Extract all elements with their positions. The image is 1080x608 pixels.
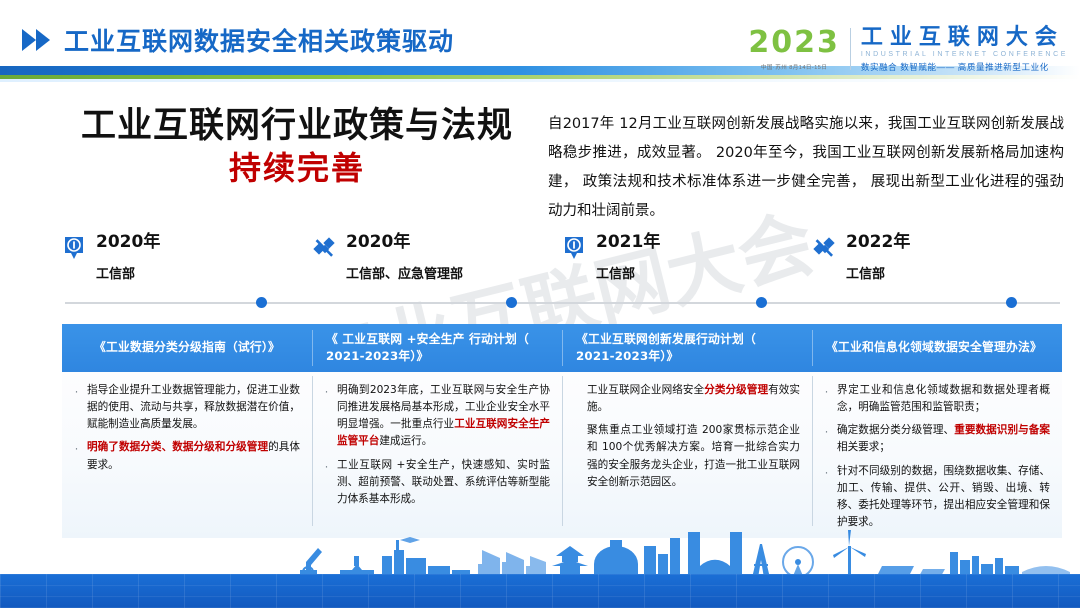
- timeline-org: 工信部: [96, 263, 160, 282]
- bullet-dot-icon: ·: [822, 463, 831, 532]
- plain-text: 确定数据分类分级管理、: [837, 424, 954, 436]
- intro-paragraph: 自2017年 12月工业互联网创新发展战略实施以来，我国工业互联网创新发展战略稳…: [548, 110, 1064, 226]
- footer-grid: [0, 574, 1080, 608]
- logo-year-block: 2023 中国·苏州 8月14日-15日: [748, 26, 840, 71]
- policy-column: ·明确到2023年底，工业互联网与安全生产协同推进发展格局基本形成，工业企业安全…: [312, 372, 562, 538]
- bullet-dot-icon: ·: [822, 422, 831, 456]
- policy-bullet-text: 工业互联网 +安全生产，快速感知、实时监测、超前预警、联动处置、系统评估等新型能…: [337, 457, 550, 508]
- policy-title[interactable]: 《工业和信息化领域数据安全管理办法》: [812, 324, 1062, 372]
- logo-name-en: INDUSTRIAL INTERNET CONFERENCE: [861, 51, 1068, 58]
- bullet-dot-icon: ·: [322, 457, 331, 508]
- slide-header: 工业互联网数据安全相关政策驱动 2023 中国·苏州 8月14日-15日 工业互…: [0, 0, 1080, 92]
- timeline-dot: [256, 297, 267, 308]
- bullet-dot-icon: ·: [822, 382, 831, 416]
- header-title-row: 工业互联网数据安全相关政策驱动: [22, 22, 454, 58]
- plain-text: 工业互联网企业网络安全: [587, 384, 704, 396]
- timeline-year: 2022年: [846, 232, 910, 253]
- logo-date: 中国·苏州 8月14日-15日: [761, 63, 828, 71]
- slide-root: 工业互联网大会 2023工业互联网大会 工业互联网数据安全相关政策驱动 2023…: [0, 0, 1080, 608]
- timeline-item[interactable]: 2021年工信部: [562, 232, 660, 282]
- policy-title[interactable]: 《工业互联网创新发展行动计划（ 2021-2023年）》: [562, 324, 812, 372]
- policy-title-bar: 《工业数据分类分级指南（试行）》《 工业互联网 +安全生产 行动计划（ 2021…: [62, 324, 1062, 372]
- policy-bullet: ·工业互联网 +安全生产，快速感知、实时监测、超前预警、联动处置、系统评估等新型…: [322, 457, 550, 508]
- main-title: 工业互联网行业政策与法规: [62, 106, 532, 147]
- map-pin-icon: [562, 236, 586, 262]
- logo-slogan: 数实融合 数智赋能—— 高质量推进新型工业化: [861, 61, 1068, 73]
- timeline-item-texts: 2020年工信部、应急管理部: [346, 232, 463, 282]
- timeline-axis: [65, 302, 1060, 304]
- satellite-icon: [312, 236, 336, 262]
- city-skyline-icon: [0, 526, 1080, 578]
- policy-bullet: ·工业互联网企业网络安全分类分级管理有效实施。: [572, 382, 800, 416]
- timeline-org: 工信部: [596, 263, 660, 282]
- plain-text: 建成运行。: [379, 435, 432, 447]
- policy-bullet-text: 界定工业和信息化领域数据和数据处理者概念，明确监管范围和监管职责；: [837, 382, 1050, 416]
- policy-bullet: ·指导企业提升工业数据管理能力，促进工业数据的使用、流动与共享，释放数据潜在价值…: [72, 382, 300, 433]
- timeline-year: 2021年: [596, 232, 660, 253]
- highlighted-text: 重要数据识别与备案: [954, 424, 1050, 436]
- policy-bullet: ·针对不同级别的数据，围绕数据收集、存储、加工、传输、提供、公开、销毁、出境、转…: [822, 463, 1050, 532]
- logo-name-cn: 工业互联网大会: [861, 26, 1068, 49]
- map-pin-icon: [62, 236, 86, 262]
- page-title: 工业互联网数据安全相关政策驱动: [64, 22, 454, 58]
- policy-bullet: ·确定数据分类分级管理、重要数据识别与备案相关要求；: [822, 422, 1050, 456]
- slide-footer: [0, 530, 1080, 608]
- timeline-item[interactable]: 2020年工信部: [62, 232, 160, 282]
- timeline-item-texts: 2022年工信部: [846, 232, 910, 282]
- policy-panel: 《工业数据分类分级指南（试行）》《 工业互联网 +安全生产 行动计划（ 2021…: [62, 324, 1062, 538]
- highlighted-text: 分类分级管理: [704, 384, 768, 396]
- timeline-dot: [506, 297, 517, 308]
- timeline-item[interactable]: 2022年工信部: [812, 232, 910, 282]
- plain-text: 相关要求；: [837, 441, 890, 453]
- bullet-dot-icon: ·: [72, 382, 81, 433]
- timeline-dot: [756, 297, 767, 308]
- policy-bullet-text: 工业互联网企业网络安全分类分级管理有效实施。: [587, 382, 800, 416]
- policy-columns: ·指导企业提升工业数据管理能力，促进工业数据的使用、流动与共享，释放数据潜在价值…: [62, 372, 1062, 538]
- plain-text: 聚焦重点工业领域打造 200家贯标示范企业和 100个优秀解决方案。培育一批综合…: [587, 424, 800, 487]
- header-light-rule: [0, 79, 1080, 82]
- bullet-dot-icon: ·: [322, 382, 331, 451]
- plain-text: 针对不同级别的数据，围绕数据收集、存储、加工、传输、提供、公开、销毁、出境、转移…: [837, 465, 1050, 528]
- timeline-org: 工信部、应急管理部: [346, 263, 463, 282]
- timeline-item-texts: 2021年工信部: [596, 232, 660, 282]
- plain-text: 指导企业提升工业数据管理能力，促进工业数据的使用、流动与共享，释放数据潜在价值，…: [87, 384, 300, 430]
- timeline-year: 2020年: [346, 232, 463, 253]
- plain-text: 界定工业和信息化领域数据和数据处理者概念，明确监管范围和监管职责；: [837, 384, 1050, 413]
- policy-bullet-text: 针对不同级别的数据，围绕数据收集、存储、加工、传输、提供、公开、销毁、出境、转移…: [837, 463, 1050, 532]
- timeline-item-texts: 2020年工信部: [96, 232, 160, 282]
- policy-bullet: ·界定工业和信息化领域数据和数据处理者概念，明确监管范围和监管职责；: [822, 382, 1050, 416]
- timeline-item[interactable]: 2020年工信部、应急管理部: [312, 232, 463, 282]
- policy-bullet-text: 明确了数据分类、数据分级和分级管理的具体要求。: [87, 439, 300, 473]
- policy-bullet: ·聚焦重点工业领域打造 200家贯标示范企业和 100个优秀解决方案。培育一批综…: [572, 422, 800, 491]
- policy-column: ·指导企业提升工业数据管理能力，促进工业数据的使用、流动与共享，释放数据潜在价值…: [62, 372, 312, 538]
- timeline-year: 2020年: [96, 232, 160, 253]
- logo-year: 2023: [748, 28, 840, 58]
- conference-logo: 2023 中国·苏州 8月14日-15日 工业互联网大会 INDUSTRIAL …: [748, 26, 1068, 73]
- policy-title[interactable]: 《工业数据分类分级指南（试行）》: [62, 324, 312, 372]
- main-title-block: 工业互联网行业政策与法规 持续完善: [62, 106, 532, 188]
- policy-column: ·界定工业和信息化领域数据和数据处理者概念，明确监管范围和监管职责；·确定数据分…: [812, 372, 1062, 538]
- logo-divider: [850, 28, 851, 70]
- timeline-dot: [1006, 297, 1017, 308]
- satellite-icon: [812, 236, 836, 262]
- policy-bullet-text: 确定数据分类分级管理、重要数据识别与备案相关要求；: [837, 422, 1050, 456]
- main-subtitle: 持续完善: [62, 149, 532, 187]
- highlighted-text: 明确了数据分类、数据分级和分级管理: [87, 441, 268, 453]
- logo-name-block: 工业互联网大会 INDUSTRIAL INTERNET CONFERENCE 数…: [861, 26, 1068, 73]
- policy-column: ·工业互联网企业网络安全分类分级管理有效实施。·聚焦重点工业领域打造 200家贯…: [562, 372, 812, 538]
- policy-bullet-text: 指导企业提升工业数据管理能力，促进工业数据的使用、流动与共享，释放数据潜在价值，…: [87, 382, 300, 433]
- policy-title[interactable]: 《 工业互联网 +安全生产 行动计划（ 2021-2023年）》: [312, 324, 562, 372]
- policy-bullet-text: 聚焦重点工业领域打造 200家贯标示范企业和 100个优秀解决方案。培育一批综合…: [587, 422, 800, 491]
- plain-text: 工业互联网 +安全生产，快速感知、实时监测、超前预警、联动处置、系统评估等新型能…: [337, 459, 550, 505]
- policy-bullet: ·明确了数据分类、数据分级和分级管理的具体要求。: [72, 439, 300, 473]
- timeline-org: 工信部: [846, 263, 910, 282]
- timeline: 2020年工信部2020年工信部、应急管理部2021年工信部2022年工信部: [62, 232, 1062, 320]
- policy-bullet-text: 明确到2023年底，工业互联网与安全生产协同推进发展格局基本形成，工业企业安全水…: [337, 382, 550, 451]
- bullet-dot-icon: ·: [72, 439, 81, 473]
- double-triangle-icon: [22, 28, 52, 52]
- policy-bullet: ·明确到2023年底，工业互联网与安全生产协同推进发展格局基本形成，工业企业安全…: [322, 382, 550, 451]
